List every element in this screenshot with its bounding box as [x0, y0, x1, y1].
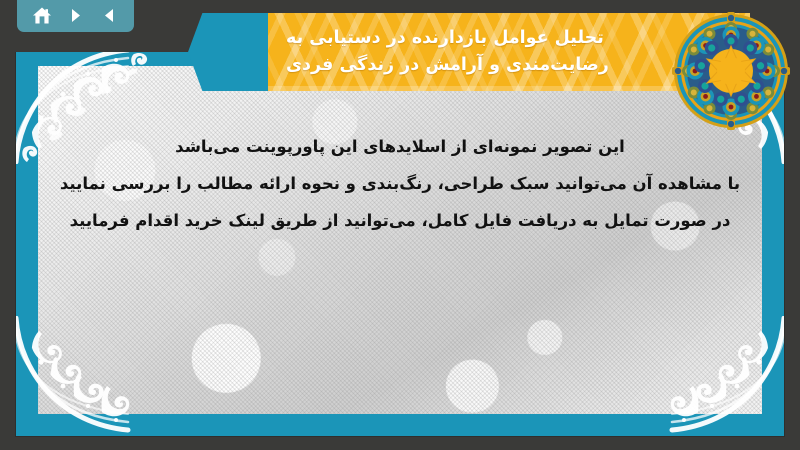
slide-viewer: تحلیل عوامل بازدارنده در دستیابی به رضای… — [0, 0, 800, 450]
slide-title: تحلیل عوامل بازدارنده در دستیابی به رضای… — [260, 13, 750, 91]
slide-canvas — [16, 44, 784, 436]
previous-triangle-icon — [101, 7, 118, 24]
home-icon — [32, 6, 52, 25]
body-line-3: در صورت تمایل به دریافت فایل کامل، می‌تو… — [40, 202, 760, 239]
banner-arrow-shape — [188, 13, 268, 91]
next-button[interactable] — [63, 3, 89, 27]
body-line-1: این تصویر نمونه‌ای از اسلایدهای این پاور… — [40, 128, 760, 165]
banner-body: تحلیل عوامل بازدارنده در دستیابی به رضای… — [260, 13, 750, 91]
slide-body-text: این تصویر نمونه‌ای از اسلایدهای این پاور… — [40, 128, 760, 239]
body-line-2: با مشاهده آن می‌توانید سبک طراحی، رنگ‌بن… — [40, 165, 760, 202]
slide-navigation-bar — [17, 0, 134, 32]
slide-title-line-2: رضایت‌مندی و آرامش در زندگی فردی — [286, 52, 609, 79]
slide-title-line-1: تحلیل عوامل بازدارنده در دستیابی به — [286, 25, 604, 52]
next-triangle-icon — [67, 7, 84, 24]
previous-button[interactable] — [96, 3, 122, 27]
home-button[interactable] — [29, 3, 55, 27]
slide-content-area — [38, 66, 762, 414]
slide-title-banner: تحلیل عوامل بازدارنده در دستیابی به رضای… — [190, 13, 750, 91]
